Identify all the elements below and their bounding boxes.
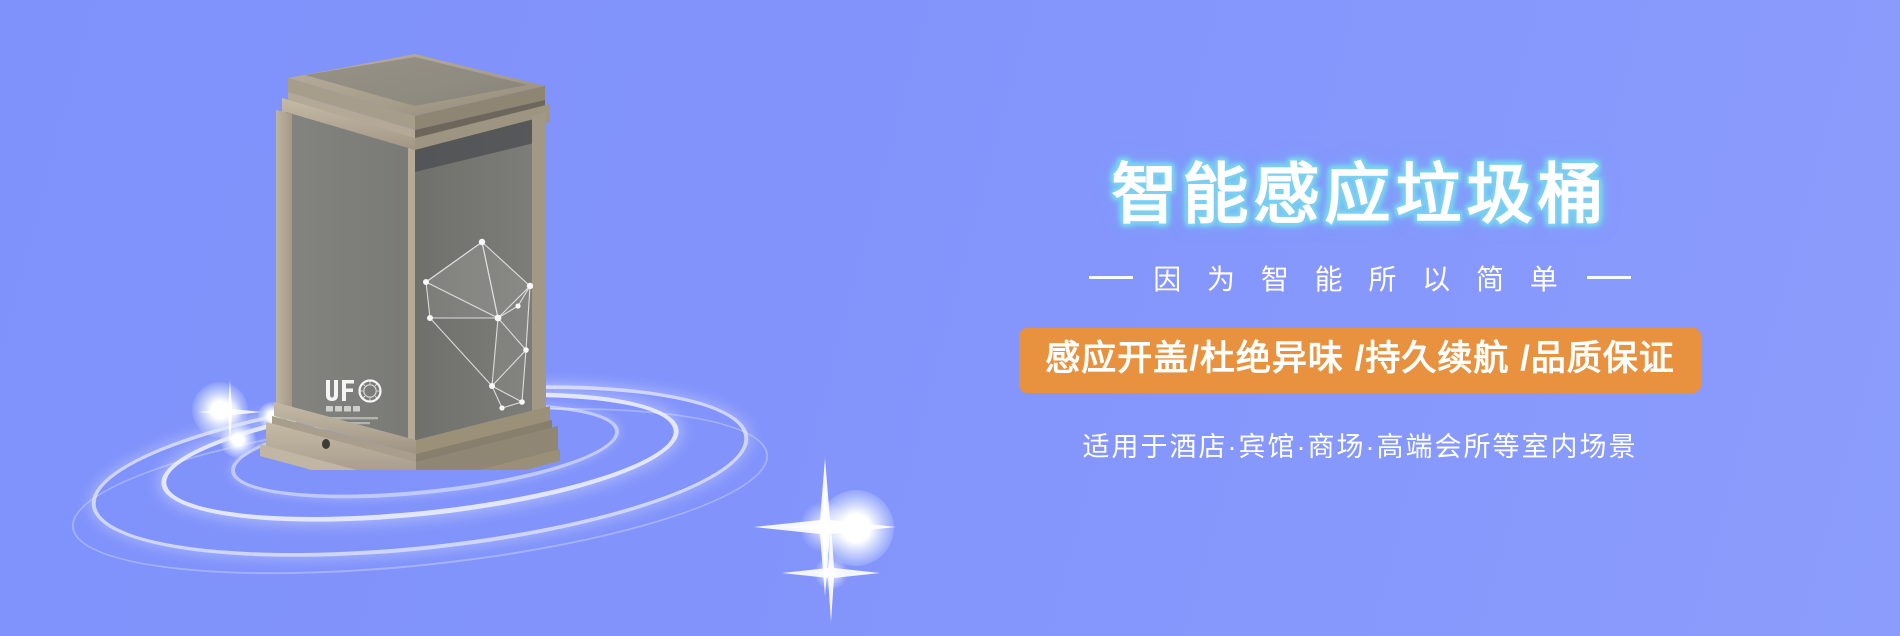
trash-bin-illustration [230, 50, 560, 470]
product-stage [60, 20, 820, 620]
tagline-row: 因 为 智 能 所 以 简 单 [1089, 258, 1630, 298]
tagline-text: 因 为 智 能 所 以 简 单 [1153, 258, 1566, 298]
scene-description: 适用于酒店·宾馆·商场·高端会所等室内场景 [1083, 425, 1638, 464]
banner-copy-block: 智能感应垃圾桶 因 为 智 能 所 以 简 单 感应开盖/杜绝异味 /持久续航 … [880, 0, 1840, 636]
tagline-rule-left [1089, 276, 1133, 279]
product-banner: 智能感应垃圾桶 因 为 智 能 所 以 简 单 感应开盖/杜绝异味 /持久续航 … [0, 0, 1900, 636]
sparkle-star-icon [778, 520, 884, 626]
sparkle-star-icon [750, 452, 900, 602]
feature-badge: 感应开盖/杜绝异味 /持久续航 /品质保证 [1019, 328, 1701, 393]
tagline-rule-right [1587, 276, 1631, 279]
page-title: 智能感应垃圾桶 [1112, 158, 1609, 232]
